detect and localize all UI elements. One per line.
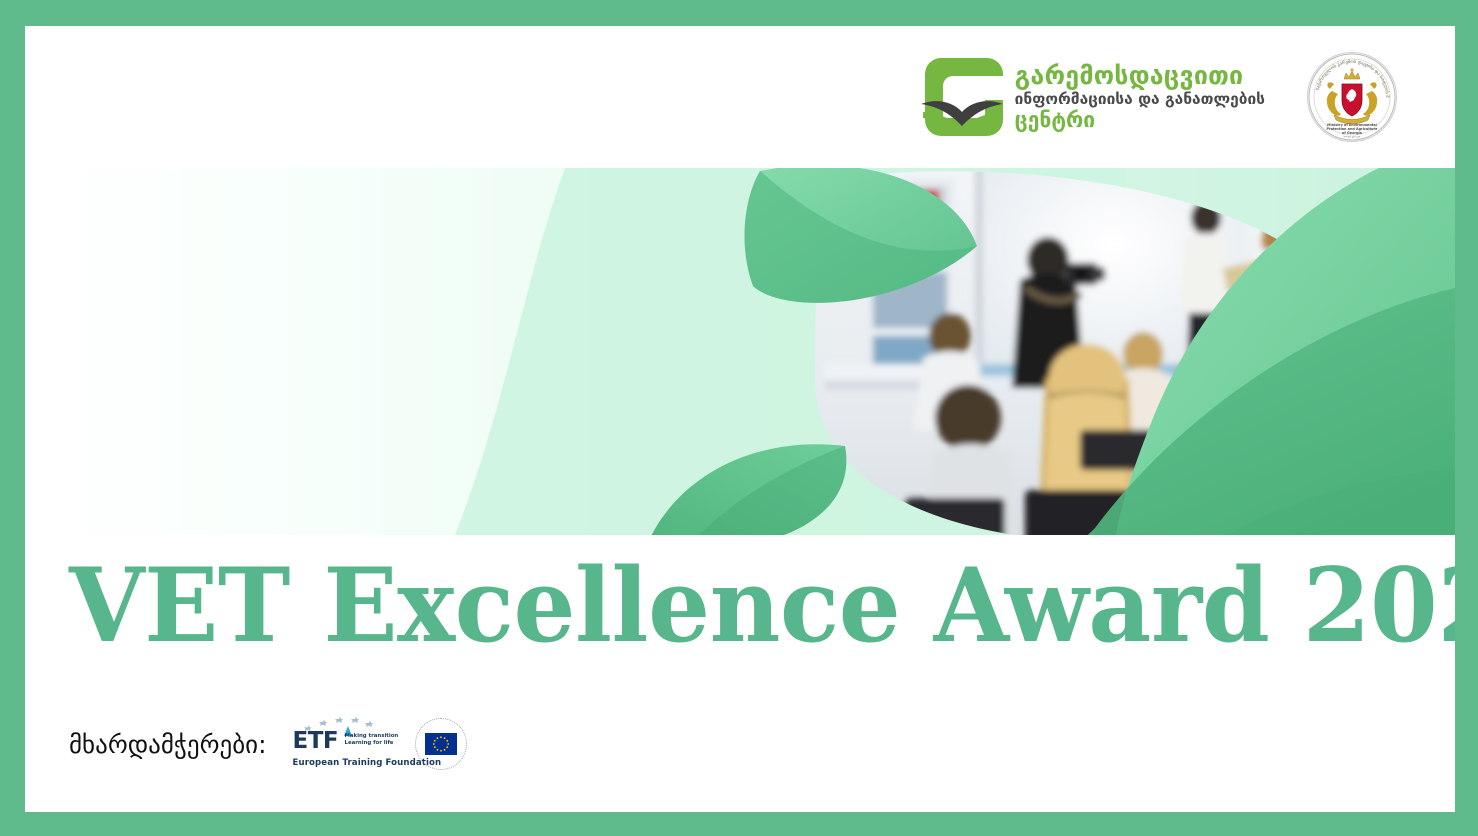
etf-tagline-line-2: Learning for life (345, 740, 399, 747)
eiec-logo-line-1: გარემოსდაცვითი (1015, 63, 1265, 88)
eiec-logo-line-3: ცენტრი (1015, 110, 1265, 131)
page-title: VET Excellence Award 2022 (69, 546, 1351, 666)
etf-tagline: Making transition Learning for life (345, 733, 399, 747)
poster-header: გარემოსდაცვითი ინფორმაციისა და განათლები… (25, 26, 1455, 168)
supporters-row: მხარდამჭერები: ETF (69, 716, 467, 772)
etf-full-name: European Training Foundation (293, 758, 442, 768)
svg-text:mepa.gov.ge: mepa.gov.ge (1344, 136, 1361, 139)
supporters-label: მხარდამჭერები: (69, 730, 267, 759)
etf-tagline-line-1: Making transition (345, 733, 399, 740)
eiec-logo-text: გარემოსდაცვითი ინფორმაციისა და განათლები… (1015, 63, 1265, 132)
title-block: VET Excellence Award 2022 (25, 546, 1455, 676)
etf-logo-icon[interactable]: ETF Making transition Learning for life … (293, 716, 389, 772)
eu-flag (425, 733, 457, 755)
eiec-book-logo-icon (923, 56, 1005, 138)
european-union-flag-badge-icon[interactable] (415, 718, 467, 770)
etf-acronym: ETF (293, 730, 339, 753)
poster-card: გარემოსდაცვითი ინფორმაციისა და განათლები… (25, 26, 1455, 812)
ministry-seal-icon: საქართველოს გარემოს დაცვისა და სოფლის მე… (1307, 52, 1397, 142)
svg-text:of Georgia: of Georgia (1342, 131, 1363, 135)
header-logo-row: გარემოსდაცვითი ინფორმაციისა და განათლები… (923, 52, 1397, 142)
eiec-logo-line-2: ინფორმაციისა და განათლების (1015, 92, 1265, 108)
hero-banner (25, 168, 1455, 535)
eiec-logo: გარემოსდაცვითი ინფორმაციისა და განათლები… (923, 56, 1265, 138)
poster-root: გარემოსდაცვითი ინფორმაციისა და განათლები… (0, 0, 1478, 836)
